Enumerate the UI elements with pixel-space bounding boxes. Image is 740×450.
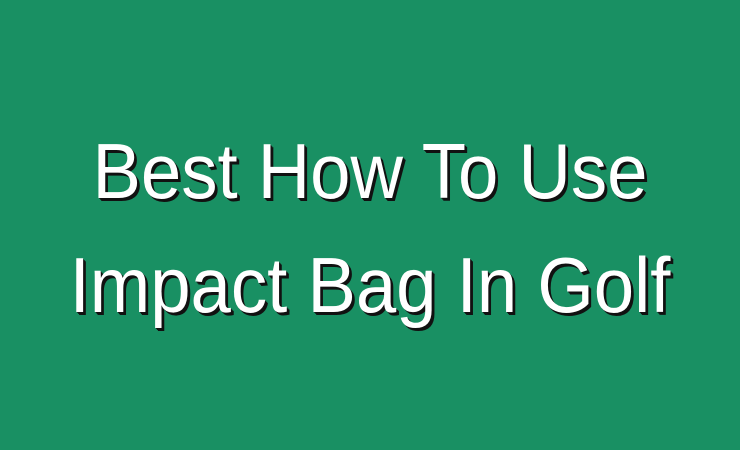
title-line-2: Impact Bag In Golf: [26, 228, 714, 342]
title-line-1: Best How To Use: [26, 114, 714, 228]
page-title: Best How To Use Impact Bag In Golf: [0, 108, 740, 342]
title-card: Best How To Use Impact Bag In Golf: [0, 0, 740, 450]
